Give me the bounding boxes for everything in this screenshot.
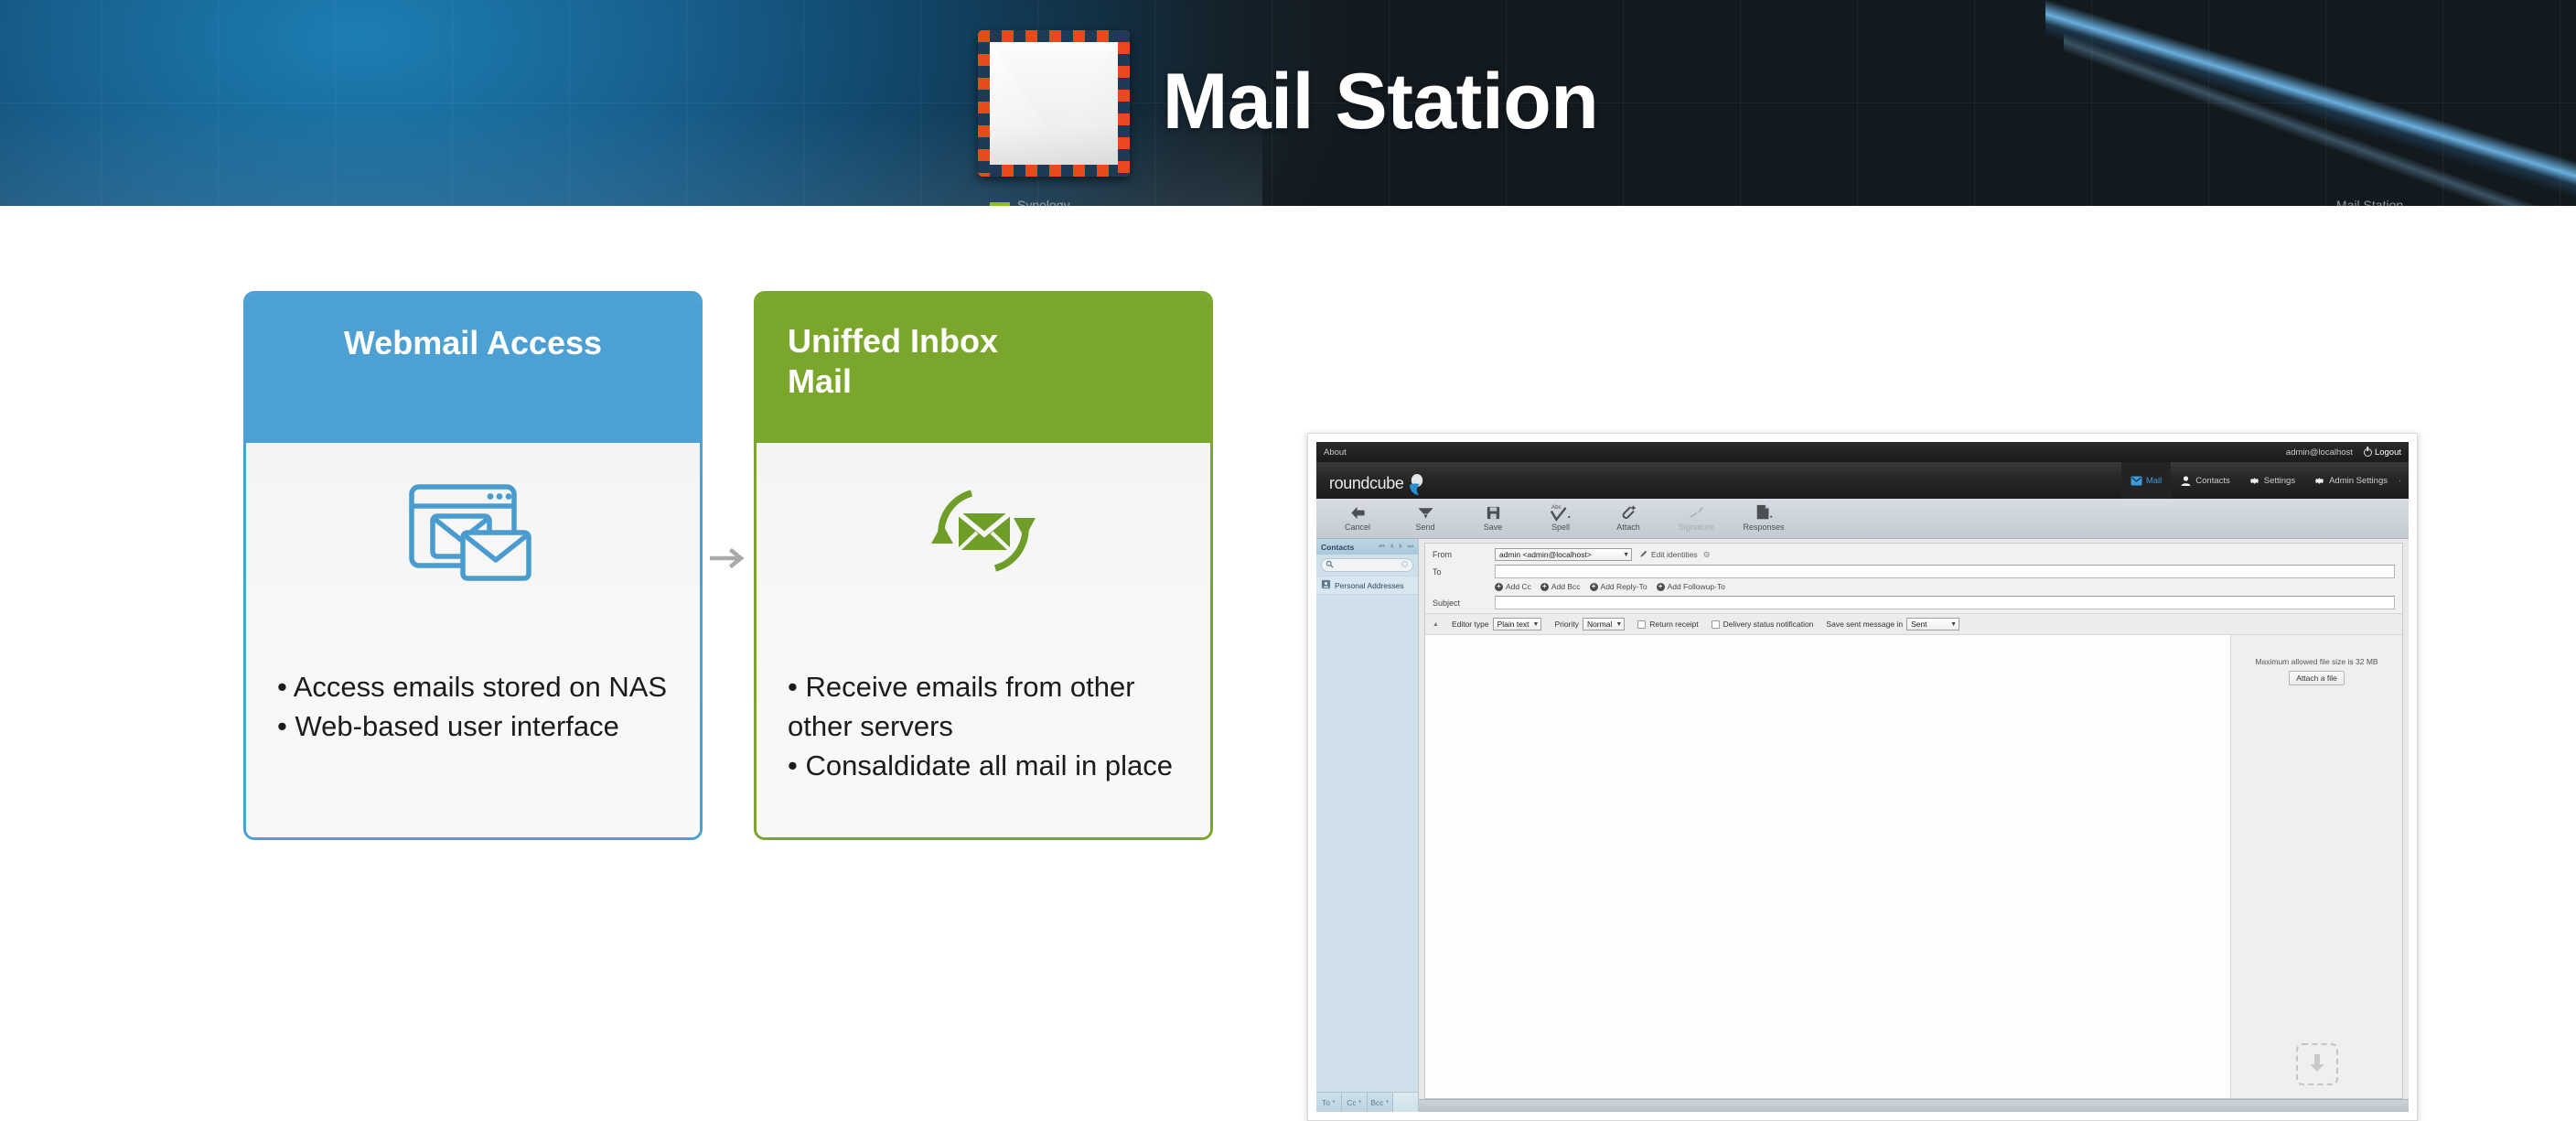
- download-arrow-icon: [2307, 1052, 2327, 1077]
- envelope-icon: [2131, 475, 2142, 487]
- save-sent-option: Save sent message in Sent ▼: [1826, 618, 1959, 631]
- arrow-right-icon: [710, 544, 750, 572]
- document-icon: [1754, 502, 1774, 522]
- card-unified-inbox-mail-title: Uniffed Inbox Mail: [757, 294, 1210, 443]
- add-cc-link-label: Add Cc: [1506, 582, 1531, 591]
- save-sent-folder-value: Sent: [1911, 620, 1927, 629]
- tab-admin-settings-label: Admin Settings: [2329, 476, 2388, 486]
- page-banner: Mail Station Synology Mail Station: [0, 0, 2576, 206]
- toolbar-cancel-button[interactable]: Cancel: [1333, 502, 1382, 532]
- logout-label: Logout: [2375, 447, 2401, 458]
- roundcube-tab-bar: Mail Contacts: [2121, 462, 2409, 499]
- airmail-envelope-icon: [978, 30, 1130, 177]
- banner-clipped-text-left-label: Synology: [1017, 198, 1070, 206]
- add-reply-to-link[interactable]: + Add Reply-To: [1590, 582, 1648, 591]
- compose-headers: From admin <admin@localhost> ▼: [1425, 544, 2402, 614]
- contacts-recipient-buttons: To+ Cc+ Bcc+: [1316, 1092, 1418, 1112]
- add-bcc-recipient-button[interactable]: Bcc+: [1368, 1093, 1393, 1112]
- add-reply-to-link-label: Add Reply-To: [1601, 582, 1648, 591]
- add-bcc-link[interactable]: + Add Bcc: [1540, 582, 1581, 591]
- editor-type-label: Editor type: [1452, 620, 1489, 629]
- toolbar-send-button[interactable]: Send: [1401, 502, 1450, 532]
- page-title: Mail Station: [1163, 62, 1599, 141]
- arrow-back-icon: [1349, 502, 1367, 522]
- editor-type-option: Editor type Plain text ▼: [1452, 618, 1542, 631]
- contacts-pager[interactable]: ⏮ ⏴ ⏵ ⏭: [1379, 544, 1413, 551]
- contacts-search-box[interactable]: [1321, 558, 1413, 572]
- toolbar-cancel-label: Cancel: [1345, 523, 1370, 532]
- roundcube-screenshot: About admin@localhost Logout roundcube: [1307, 433, 2418, 1121]
- about-link[interactable]: About: [1324, 447, 1347, 458]
- delivery-status-label: Delivery status notification: [1723, 620, 1814, 629]
- toolbar-signature-button[interactable]: Signature: [1671, 502, 1721, 532]
- plus-icon: +: [1657, 583, 1665, 591]
- roundcube-status-bar: [1419, 1099, 2409, 1112]
- pager-prev-icon[interactable]: ⏴: [1390, 544, 1394, 551]
- add-followup-to-link-label: Add Followup-To: [1668, 582, 1725, 591]
- card-unified-inbox-mail: Uniffed Inbox Mail • Receive email: [754, 291, 1213, 840]
- add-to-plus: +: [1332, 1099, 1336, 1105]
- add-to-recipient-button[interactable]: To+: [1316, 1093, 1342, 1112]
- logout-button[interactable]: Logout: [2364, 447, 2401, 458]
- card-webmail-access-bullets: • Access emails stored on NAS • Web-base…: [277, 668, 683, 747]
- compose-editor-area: Maximum allowed file size is 32 MB Attac…: [1425, 635, 2402, 1098]
- toolbar-responses-label: Responses: [1743, 523, 1784, 532]
- priority-select[interactable]: Normal ▼: [1583, 618, 1625, 631]
- toolbar-save-label: Save: [1484, 523, 1503, 532]
- power-icon: [2364, 448, 2372, 457]
- banner-clipped-text-left: Synology: [990, 198, 1070, 206]
- contacts-search-input[interactable]: [1336, 561, 1398, 569]
- bullet-item: • Web-based user interface: [277, 707, 683, 747]
- clear-search-icon[interactable]: [1401, 560, 1409, 571]
- pager-first-icon[interactable]: ⏮: [1379, 544, 1384, 551]
- editor-type-select[interactable]: Plain text ▼: [1493, 618, 1542, 631]
- banner-clipped-text-right: Mail Station: [2336, 198, 2403, 206]
- card-webmail-access-title: Webmail Access: [246, 294, 700, 443]
- priority-label: Priority: [1554, 620, 1578, 629]
- tabs-overflow-button[interactable]: ·: [2397, 462, 2409, 499]
- from-identity-select[interactable]: admin <admin@localhost> ▼: [1495, 548, 1632, 561]
- toolbar-attach-button[interactable]: Attach: [1604, 502, 1653, 532]
- pencil-icon: [1687, 502, 1705, 522]
- add-cc-label: Cc: [1347, 1098, 1356, 1107]
- person-icon: [2180, 475, 2192, 487]
- toolbar-save-button[interactable]: Save: [1468, 502, 1518, 532]
- pencil-icon: [1639, 550, 1648, 560]
- plus-icon: +: [1590, 583, 1598, 591]
- roundcube-bird-icon: [1405, 472, 1429, 496]
- attachments-pane: Maximum allowed file size is 32 MB Attac…: [2230, 635, 2402, 1098]
- compose-toolbar: Cancel Send: [1316, 499, 2409, 539]
- collapse-options-icon[interactable]: ▲: [1433, 621, 1439, 628]
- toolbar-responses-button[interactable]: Responses: [1739, 502, 1788, 532]
- gear-icon: [2249, 475, 2260, 487]
- add-bcc-label: Bcc: [1370, 1098, 1383, 1107]
- tab-contacts-label: Contacts: [2195, 476, 2230, 486]
- compose-form: From admin <admin@localhost> ▼: [1424, 543, 2403, 1099]
- add-cc-plus: +: [1358, 1099, 1362, 1105]
- paperclip-plus-icon: [1619, 502, 1637, 522]
- editor-type-value: Plain text: [1497, 620, 1529, 629]
- roundcube-brand-label: roundcube: [1329, 474, 1403, 493]
- priority-option: Priority Normal ▼: [1554, 618, 1625, 631]
- browser-window-with-envelopes-icon: [246, 476, 700, 586]
- attach-a-file-button[interactable]: Attach a file: [2289, 671, 2344, 685]
- chevron-down-icon: ▼: [1615, 621, 1622, 628]
- card-webmail-access: Webmail Access • Access emails stored on…: [243, 291, 703, 840]
- delivery-status-checkbox[interactable]: [1712, 620, 1720, 629]
- add-to-label: To: [1322, 1098, 1330, 1107]
- save-sent-folder-select[interactable]: Sent ▼: [1906, 618, 1959, 631]
- roundcube-main-area: Contacts ⏮ ⏴ ⏵ ⏭: [1316, 539, 2409, 1112]
- add-cc-recipient-button[interactable]: Cc+: [1342, 1093, 1368, 1112]
- add-bcc-link-label: Add Bcc: [1551, 582, 1581, 591]
- pager-next-icon[interactable]: ⏵: [1399, 544, 1402, 551]
- plus-icon: +: [1495, 583, 1503, 591]
- priority-value: Normal: [1587, 620, 1612, 629]
- chevron-down-icon: ▼: [1950, 621, 1957, 628]
- subject-label: Subject: [1433, 598, 1495, 608]
- roundcube-topbar: roundcube: [1316, 462, 2409, 499]
- tab-mail[interactable]: Mail: [2121, 462, 2171, 499]
- max-file-size-note: Maximum allowed file size is 32 MB: [2255, 657, 2377, 666]
- content-stage: Webmail Access • Access emails stored on…: [0, 206, 2576, 1002]
- compose-from-row: From admin <admin@localhost> ▼: [1433, 548, 2395, 561]
- search-icon: [1326, 560, 1334, 571]
- edit-identities-label: Edit identities: [1651, 550, 1698, 559]
- compose-content: From admin <admin@localhost> ▼: [1419, 539, 2409, 1112]
- toolbar-attach-label: Attach: [1616, 523, 1640, 532]
- toolbar-spell-label: Spell: [1551, 523, 1570, 532]
- contacts-sidebar-title: Contacts: [1321, 543, 1354, 552]
- add-cc-link[interactable]: + Add Cc: [1495, 582, 1531, 591]
- recipient-buttons-spacer: [1393, 1093, 1418, 1112]
- contacts-sidebar: Contacts ⏮ ⏴ ⏵ ⏭: [1316, 539, 1419, 1112]
- compose-add-recipient-links: + Add Cc + Add Bcc + Add Reply-To: [1433, 582, 2395, 596]
- tab-settings[interactable]: Settings: [2239, 462, 2304, 499]
- current-user-label: admin@localhost: [2286, 447, 2353, 458]
- delivery-status-option[interactable]: Delivery status notification: [1712, 620, 1814, 629]
- add-bcc-plus: +: [1386, 1099, 1390, 1105]
- tab-admin-settings[interactable]: Admin Settings: [2304, 462, 2397, 499]
- toolbar-send-label: Send: [1415, 523, 1434, 532]
- sync-envelope-icon: [757, 476, 1210, 586]
- add-followup-to-link[interactable]: + Add Followup-To: [1657, 582, 1725, 591]
- from-label: From: [1433, 550, 1495, 559]
- plus-icon: +: [1540, 583, 1549, 591]
- to-input[interactable]: [1495, 565, 2395, 578]
- from-identity-value: admin <admin@localhost>: [1499, 550, 1592, 559]
- tab-mail-label: Mail: [2146, 476, 2162, 486]
- tab-contacts[interactable]: Contacts: [2171, 462, 2239, 499]
- gear-icon: [2313, 475, 2325, 487]
- save-sent-label: Save sent message in: [1826, 620, 1903, 629]
- compose-subject-row: Subject: [1433, 596, 2395, 609]
- spellcheck-abc-icon: Abc: [1550, 502, 1572, 522]
- contacts-sidebar-header: Contacts ⏮ ⏴ ⏵ ⏭: [1316, 539, 1418, 555]
- toolbar-spell-button[interactable]: Abc Spell: [1536, 502, 1585, 532]
- paper-plane-icon: [1417, 502, 1434, 522]
- edit-identities-link[interactable]: Edit identities: [1639, 550, 1698, 560]
- contacts-list-empty-area: [1316, 595, 1418, 1092]
- return-receipt-checkbox[interactable]: [1637, 620, 1646, 629]
- bullet-item: • Consaldidate all mail in place: [788, 747, 1194, 786]
- svg-text:Abc: Abc: [1551, 504, 1562, 511]
- chevron-down-icon: ▼: [1533, 621, 1540, 628]
- attachment-dropzone[interactable]: [2296, 1043, 2338, 1085]
- bullet-item: • Receive emails from other other server…: [788, 668, 1194, 747]
- pager-last-icon[interactable]: ⏭: [1408, 544, 1413, 551]
- floppy-disk-icon: [1485, 502, 1502, 522]
- card-unified-inbox-mail-bullets: • Receive emails from other other server…: [788, 668, 1194, 785]
- return-receipt-label: Return receipt: [1649, 620, 1698, 629]
- bullet-item: • Access emails stored on NAS: [277, 668, 683, 707]
- address-book-icon: [1321, 579, 1331, 591]
- compose-to-row: To: [1433, 565, 2395, 578]
- contacts-group-label: Personal Addresses: [1335, 581, 1404, 590]
- subject-input[interactable]: [1495, 596, 2395, 609]
- to-label: To: [1433, 567, 1495, 577]
- compose-options-bar: ▲ Editor type Plain text ▼ Priority: [1425, 614, 2402, 635]
- roundcube-logo: roundcube: [1316, 472, 1429, 499]
- chevron-down-icon: ▼: [1623, 552, 1629, 558]
- roundcube-taskbar: About admin@localhost Logout: [1316, 442, 2409, 462]
- contacts-group-personal-addresses[interactable]: Personal Addresses: [1316, 576, 1418, 595]
- roundcube-app-window: About admin@localhost Logout roundcube: [1316, 442, 2409, 1112]
- toolbar-signature-label: Signature: [1679, 523, 1714, 532]
- compose-options-gear-icon[interactable]: ⚙: [1703, 550, 1711, 560]
- tab-settings-label: Settings: [2264, 476, 2295, 486]
- return-receipt-option[interactable]: Return receipt: [1637, 620, 1698, 629]
- message-body-textarea[interactable]: [1425, 635, 2230, 1098]
